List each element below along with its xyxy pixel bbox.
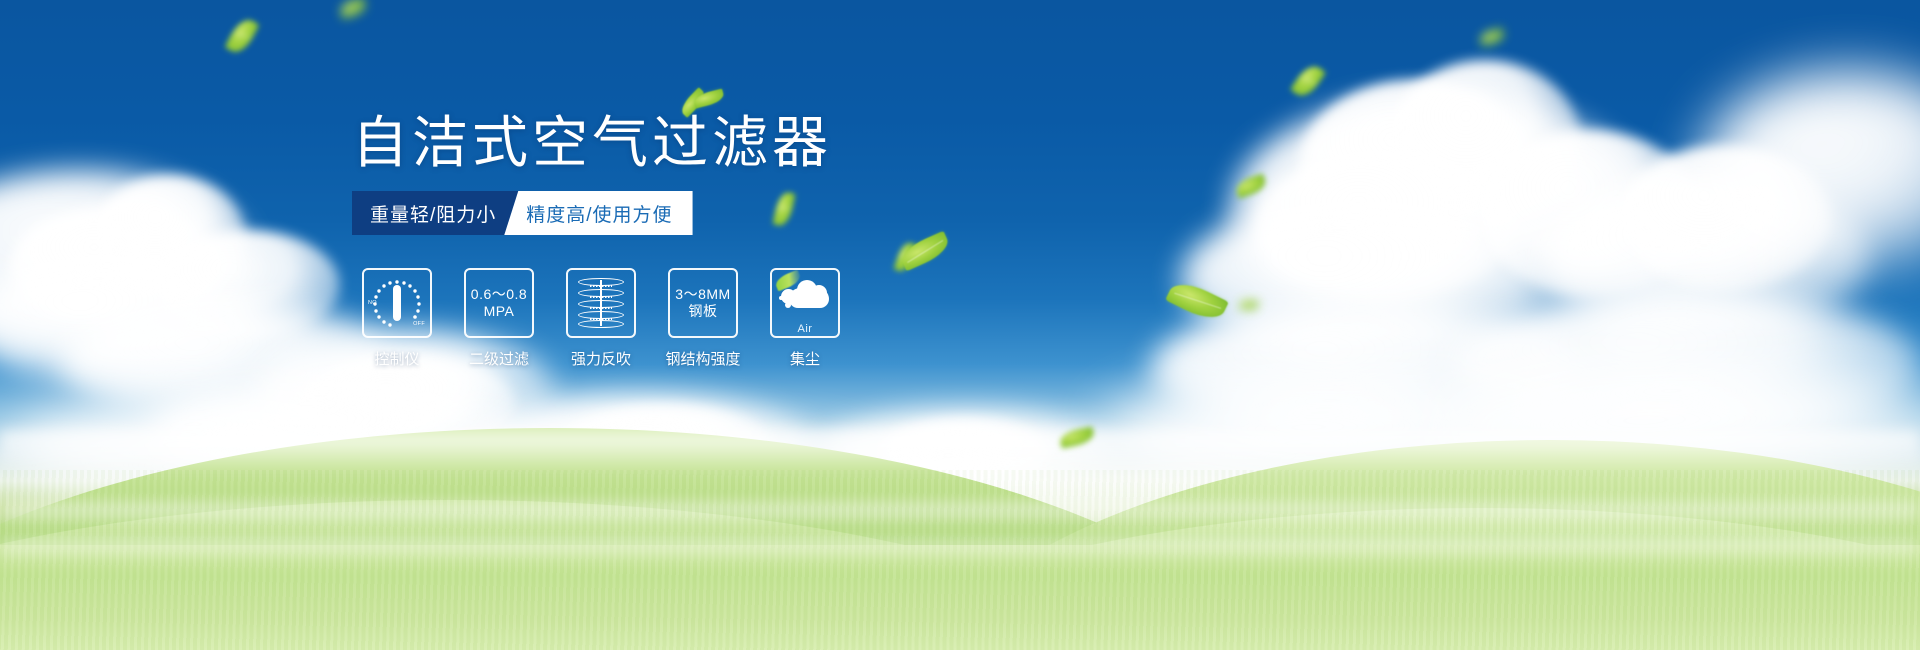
tab-label: 精度高/使用方便 <box>526 200 672 227</box>
air-label: Air <box>777 323 833 335</box>
steel-thickness-line1: 3～8MM <box>675 286 730 303</box>
pressure-value-line2: MPA <box>484 303 515 320</box>
gauge-label-off: OFF <box>413 321 425 327</box>
pressure-value-line1: 0.6～0.8 <box>471 286 527 303</box>
air-cloud-icon-box: Air <box>770 268 840 338</box>
gauge-needle-icon <box>393 285 401 321</box>
gauge-dial-icon-box: NO OFF <box>362 268 432 338</box>
feature-tabs: 重量轻/阻力小 精度高/使用方便 <box>352 191 693 235</box>
feature-item-controller[interactable]: NO OFF 控制仪 <box>358 268 436 369</box>
pressure-text-icon-box: 0.6～0.8 MPA <box>464 268 534 338</box>
feature-item-two-stage-filter[interactable]: 0.6～0.8 MPA 二级过滤 <box>460 268 538 369</box>
product-hero-banner: 自洁式空气过滤器 重量轻/阻力小 精度高/使用方便 <box>0 0 1920 650</box>
feature-item-strong-backblow[interactable]: 强力反吹 <box>562 268 640 369</box>
page-title: 自洁式空气过滤器 <box>352 112 832 174</box>
filter-coil-icon-box <box>566 268 636 338</box>
feature-label: 集尘 <box>790 348 820 369</box>
feature-icon-list: NO OFF 控制仪 0.6～0.8 MPA 二级过滤 <box>358 268 844 369</box>
feature-item-dust-collection[interactable]: Air 集尘 <box>766 268 844 369</box>
feature-label: 控制仪 <box>374 348 419 369</box>
tab-weight-resistance[interactable]: 重量轻/阻力小 <box>352 191 518 235</box>
feature-label: 强力反吹 <box>571 348 631 369</box>
filter-coil-icon <box>578 278 624 328</box>
feature-label: 二级过滤 <box>469 348 529 369</box>
steel-thickness-line2: 钢板 <box>689 303 718 320</box>
tab-precision-convenience[interactable]: 精度高/使用方便 <box>504 191 692 235</box>
gauge-dial-icon: NO OFF <box>370 277 424 329</box>
air-cloud-icon: Air <box>777 278 833 322</box>
tab-label: 重量轻/阻力小 <box>370 200 496 227</box>
gauge-label-no: NO <box>368 300 377 306</box>
feature-item-steel-strength[interactable]: 3～8MM 钢板 钢结构强度 <box>664 268 742 369</box>
feature-label: 钢结构强度 <box>665 348 740 369</box>
steel-plate-text-icon-box: 3～8MM 钢板 <box>668 268 738 338</box>
